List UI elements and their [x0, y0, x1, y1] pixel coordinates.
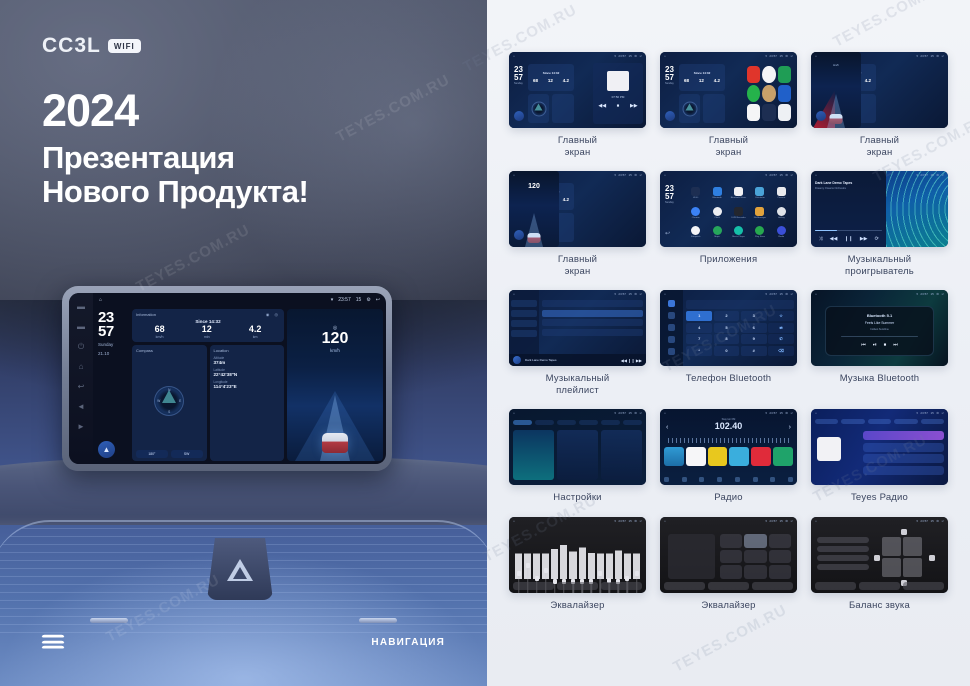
- app-drawer[interactable]: Wi-Fi Bluetooth Bluetooth Music Calculat…: [684, 182, 793, 243]
- hero-year: 2024: [42, 88, 308, 133]
- radio-icon: [777, 226, 786, 235]
- caption-line-1: Главный: [709, 135, 748, 146]
- app-tile[interactable]: Radio: [772, 223, 791, 241]
- hero-headline: 2024 Презентация Нового Продукта!: [42, 88, 308, 209]
- contacts-icon[interactable]: [668, 312, 675, 319]
- scene: Bluetooth 5.1 Feels Like Summer Coldest …: [811, 290, 948, 366]
- gallery-item[interactable]: 2357Sunday Since 14:32 68124.2 07:50 PM …: [509, 52, 646, 158]
- gallery-item[interactable]: Bluetooth 5.1 Feels Like Summer Coldest …: [811, 290, 948, 396]
- eq-band[interactable]: [615, 527, 622, 580]
- thumbnail-bluetooth-music[interactable]: Bluetooth 5.1 Feels Like Summer Coldest …: [811, 290, 948, 366]
- tab-sound-field[interactable]: [859, 582, 900, 590]
- app-tile[interactable]: Bluetooth: [707, 184, 726, 202]
- clock-column: 23 57 Sunday 21.10 ▲: [96, 309, 129, 461]
- stat-speed-value: 68: [155, 325, 165, 334]
- caption-line-2: экран: [565, 266, 591, 277]
- preset-2[interactable]: [686, 447, 706, 466]
- thumbnail-apps[interactable]: 2357Sunday Wi-Fi Bluetooth Bluetooth Mus…: [660, 171, 797, 247]
- head-unit-button-rail[interactable]: ▬ ▬ ⏻ ⌂ ↩ ◄ ►: [69, 293, 93, 464]
- app-tile[interactable]: Gallery: [772, 204, 791, 222]
- key-9[interactable]: 9: [741, 334, 767, 344]
- hero-line-1: Презентация: [42, 141, 308, 175]
- thumbnail-bluetooth-phone[interactable]: 1 2 3 ☆ 4 5 6 ⇄ 7 8 9 ✆: [660, 290, 797, 366]
- favorite-icon[interactable]: ☆: [768, 311, 794, 321]
- key-3[interactable]: 3: [741, 311, 767, 321]
- gallery-icon: [777, 207, 786, 216]
- thumbnail-music-player[interactable]: Dark Lane Demo Tapes Dreamy Oceans Orche…: [811, 171, 948, 247]
- tab-balance[interactable]: [601, 582, 642, 590]
- volume-level: 15: [356, 297, 362, 303]
- settings-icon[interactable]: [668, 348, 675, 355]
- equalizer-tabs[interactable]: [513, 582, 642, 590]
- key-2[interactable]: 2: [714, 311, 740, 321]
- thumbnail-settings[interactable]: ⌂▾23:5715⚙↩: [509, 409, 646, 485]
- tab-system[interactable]: [623, 420, 642, 425]
- eq-band[interactable]: [569, 529, 576, 579]
- wifi-badge: WIFI: [108, 39, 141, 53]
- teyes-track-list[interactable]: [863, 431, 944, 481]
- location-card[interactable]: Location Altitude 374m Latitude 22°42'38…: [210, 345, 285, 461]
- thumb-status-bar: ⌂▾23:5715⚙↩: [811, 171, 948, 178]
- stat-speed: 68 km/h: [155, 325, 165, 339]
- balance-front-nub[interactable]: [901, 529, 907, 535]
- backspace-icon[interactable]: ⌫: [768, 346, 794, 356]
- tab-sound[interactable]: [535, 420, 554, 425]
- stat-time: 12 min: [202, 325, 212, 339]
- thumbnail-home-apps[interactable]: 2357Sunday Since 14:32 68124.2: [660, 52, 797, 128]
- thumbnail-home-speed[interactable]: 2357Sunday Since 14:32 68124.2 km/h: [811, 52, 948, 128]
- preset-5[interactable]: [751, 447, 771, 466]
- tab-eq[interactable]: [815, 582, 856, 590]
- scene: Stayтип FM 102.40 ‹ ›: [660, 409, 797, 485]
- volume-up-icon[interactable]: ►: [77, 422, 86, 431]
- call-icon[interactable]: ✆: [768, 334, 794, 344]
- speed-panel[interactable]: ◎ 120 km/h: [287, 309, 383, 461]
- compass-card[interactable]: Compass N E W S: [132, 345, 207, 461]
- search-icon[interactable]: [668, 324, 675, 331]
- eq-band[interactable]: [588, 532, 595, 580]
- bt-track-title: Feels Like Summer: [865, 321, 894, 325]
- transfer-icon[interactable]: ⇄: [768, 323, 794, 333]
- compass-heading[interactable]: 180°: [136, 450, 168, 458]
- thumbnail-playlist[interactable]: Dark Lane Demo Tapes ◀◀ ❙❙ ▶▶ ⌂▾23:5715⚙…: [509, 290, 646, 366]
- hero-footer: НАВИГАЦИЯ: [0, 634, 487, 650]
- gallery-item[interactable]: 2357Sunday Since 14:32 68124.2: [660, 52, 797, 158]
- tile-wifi[interactable]: [513, 430, 554, 480]
- compass-direction[interactable]: SW: [171, 450, 203, 458]
- scene: 2357Sunday Since 14:32 68124.2: [660, 52, 797, 128]
- eq-band[interactable]: [624, 533, 631, 579]
- gallery-caption: Главный экран: [558, 254, 597, 277]
- power-icon[interactable]: ⏻: [77, 342, 86, 351]
- tab-balance[interactable]: [903, 582, 944, 590]
- balance-seat-grid[interactable]: [882, 537, 922, 577]
- balance-row[interactable]: [817, 564, 869, 570]
- preset-pad[interactable]: [720, 534, 742, 548]
- settings-tiles[interactable]: [513, 430, 642, 480]
- eq-band[interactable]: [542, 533, 549, 579]
- caption-line-1: Teyes Радио: [851, 492, 908, 503]
- gallery-item[interactable]: Dark Lane Demo Tapes Dreamy Oceans Orche…: [811, 171, 948, 277]
- playlist-row-selected[interactable]: [542, 310, 643, 317]
- eq-band[interactable]: [524, 533, 531, 579]
- dialpad[interactable]: 1 2 3 ☆ 4 5 6 ⇄ 7 8 9 ✆: [686, 311, 794, 356]
- gallery-caption: Главный экран: [709, 135, 748, 158]
- compass-e: E: [179, 399, 181, 403]
- next-station-icon[interactable]: ›: [789, 424, 791, 431]
- thumbnail-teyes-radio[interactable]: ⌂▾23:5715⚙↩: [811, 409, 948, 485]
- bluetooth-music-icon: [734, 187, 743, 196]
- shuffle-icon[interactable]: ⤨: [819, 236, 823, 242]
- compass-w: W: [157, 399, 160, 403]
- tile-carplay[interactable]: [557, 430, 598, 480]
- eq-band[interactable]: [515, 533, 522, 579]
- watermark: TEYES.COM.RU: [333, 71, 452, 145]
- stat-distance-unit: km: [249, 335, 262, 339]
- equalizer-tabs[interactable]: [815, 582, 944, 590]
- track-row[interactable]: [863, 454, 944, 463]
- gallery-caption: Главный экран: [860, 135, 899, 158]
- caption-line-1: Музыка Bluetooth: [840, 373, 920, 384]
- playlist-playbar[interactable]: Dark Lane Demo Tapes ◀◀ ❙❙ ▶▶: [509, 354, 646, 366]
- navigation-label: НАВИГАЦИЯ: [371, 637, 445, 648]
- key-6[interactable]: 6: [741, 323, 767, 333]
- screenshot-grid: 2357Sunday Since 14:32 68124.2 07:50 PM …: [487, 52, 970, 612]
- stat-distance: 4.2 km: [249, 325, 262, 339]
- app-tile[interactable]: Maps: [707, 223, 726, 241]
- back-icon[interactable]: ↩: [376, 297, 380, 303]
- dialer-main: 1 2 3 ☆ 4 5 6 ⇄ 7 8 9 ✆: [683, 290, 797, 366]
- gallery-item[interactable]: 1 2 3 ☆ 4 5 6 ⇄ 7 8 9 ✆: [660, 290, 797, 396]
- scene: 2357Sunday Since 14:32 68124.2 120: [509, 171, 646, 247]
- track-row-selected[interactable]: [863, 431, 944, 440]
- thumb-music-widget: 07:50 PM ◀◀⏹▶▶: [593, 63, 643, 124]
- playlist-row[interactable]: [542, 329, 643, 336]
- track-title: Dark Lane Demo Tapes: [815, 181, 882, 185]
- back-icon[interactable]: ↩: [665, 230, 675, 240]
- gallery-item[interactable]: 2357Sunday Since 14:32 68124.2 120: [509, 171, 646, 277]
- gallery-item[interactable]: ⌂▾23:5715⚙↩ Teyes Радио: [811, 409, 948, 504]
- rail-plus-icon[interactable]: ▬: [77, 322, 86, 331]
- key-hash[interactable]: #: [741, 346, 767, 356]
- equalizer-presets[interactable]: [720, 534, 791, 579]
- thumb-compass: [528, 94, 549, 123]
- music-player-icon: [734, 226, 743, 235]
- stop-icon[interactable]: ⏹: [884, 342, 887, 348]
- gallery-item[interactable]: ⌂▾23:5715⚙↩ Баланс звука: [811, 517, 948, 612]
- brand-name: CC3L: [42, 34, 101, 58]
- tile-more[interactable]: [601, 430, 642, 480]
- status-home-icon[interactable]: ⌂: [99, 297, 102, 303]
- thumb-status-bar: ⌂▾23:5715⚙↩: [811, 409, 948, 416]
- key-8[interactable]: 8: [714, 334, 740, 344]
- caption-line-1: Приложения: [700, 254, 758, 265]
- preset-pad[interactable]: [720, 550, 742, 564]
- gallery-item[interactable]: Stayтип FM 102.40 ‹ ›: [660, 409, 797, 504]
- head-unit-display[interactable]: ⌂ ▾ 23:57 15 ⚙ ↩ 23 57: [93, 293, 386, 464]
- gallery-item[interactable]: 2357Sunday Since 14:32 68124.2 km/h: [811, 52, 948, 158]
- previous-icon[interactable]: ◀◀: [830, 236, 838, 242]
- preset-1[interactable]: [664, 447, 684, 466]
- status-time: 23:57: [338, 297, 351, 303]
- preset-pad[interactable]: [744, 565, 766, 579]
- next-icon[interactable]: ⏭: [893, 342, 898, 348]
- gallery-item[interactable]: ⌂▾23:5715⚙↩ Настройки: [509, 409, 646, 504]
- thumb-status-bar: ⌂▾23:5715⚙↩: [811, 517, 948, 524]
- key-4[interactable]: 4: [686, 323, 712, 333]
- key-1[interactable]: 1: [686, 311, 712, 321]
- playlist-row[interactable]: [542, 319, 643, 326]
- gallery-caption: Эквалайзер: [701, 600, 755, 612]
- balance-presets[interactable]: [817, 537, 869, 570]
- preset-3[interactable]: [708, 447, 728, 466]
- app-tile[interactable]: Music Player: [729, 223, 748, 241]
- gallery-item[interactable]: Dark Lane Demo Tapes ◀◀ ❙❙ ▶▶ ⌂▾23:5715⚙…: [509, 290, 646, 396]
- volume-down-icon[interactable]: ◄: [77, 402, 86, 411]
- caption-line-1: Главный: [558, 254, 597, 265]
- next-icon[interactable]: ▶▶: [860, 236, 868, 242]
- caption-line-2: экран: [716, 147, 742, 158]
- gallery-caption: Музыкальный плейлист: [546, 373, 610, 396]
- app-tile[interactable]: Clock: [707, 204, 726, 222]
- teyes-topbar[interactable]: [815, 419, 944, 424]
- status-bar-right: ▾ 23:57 15 ⚙ ↩: [331, 297, 380, 303]
- caption-line-1: Музыкальный: [848, 254, 912, 265]
- caption-line-1: Главный: [558, 135, 597, 146]
- scene: 1 2 3 ☆ 4 5 6 ⇄ 7 8 9 ✆: [660, 290, 797, 366]
- compass-s: S: [168, 410, 170, 414]
- eq-band[interactable]: [560, 517, 567, 579]
- settings-tabs[interactable]: [513, 420, 642, 425]
- scene: Dark Lane Demo Tapes ◀◀ ❙❙ ▶▶: [509, 290, 646, 366]
- tab-wifi[interactable]: [513, 420, 532, 425]
- thumb-car-avatar: [528, 233, 541, 243]
- dialpad-icon[interactable]: [668, 300, 675, 307]
- thumbnail-equalizer[interactable]: ⌂▾23:5715⚙↩: [509, 517, 646, 593]
- balance-row[interactable]: [817, 555, 869, 561]
- thumb-nav-fab: [514, 111, 524, 121]
- scene: [811, 409, 948, 485]
- information-card[interactable]: Information ◉ ◎ Since 14:32 68 km/h: [132, 309, 284, 342]
- call-log-icon[interactable]: [668, 336, 675, 343]
- app-tile[interactable]: Bluetooth Music: [729, 184, 748, 202]
- preset-pad[interactable]: [744, 550, 766, 564]
- app-tile[interactable]: Calculator: [750, 184, 769, 202]
- app-tile[interactable]: FileManager: [750, 204, 769, 222]
- thumbnail-home-road[interactable]: 2357Sunday Since 14:32 68124.2 120: [509, 171, 646, 247]
- playbar-controls[interactable]: ◀◀ ❙❙ ▶▶: [621, 358, 642, 363]
- thumb-stats: 68124.2: [528, 78, 574, 83]
- key-star[interactable]: *: [686, 346, 712, 356]
- tab-sound-field[interactable]: [557, 582, 598, 590]
- equalizer-sliders[interactable]: [515, 533, 640, 579]
- thumb-status-bar: ⌂▾23:5715⚙↩: [509, 517, 646, 524]
- navigation-icon[interactable]: ▲: [98, 441, 115, 458]
- clock-day: Sunday: [98, 342, 129, 348]
- app-tile[interactable]: DVR Recorder: [729, 204, 748, 222]
- previous-station-icon[interactable]: ‹: [666, 424, 668, 431]
- thumb-information-card: Since 14:32 68124.2: [528, 64, 574, 91]
- preset-pad[interactable]: [769, 565, 791, 579]
- equalizer-tabs[interactable]: [664, 582, 793, 590]
- caption-line-1: Эквалайзер: [701, 600, 755, 611]
- head-unit-body: 23 57 Sunday 21.10 ▲ Information: [93, 306, 386, 464]
- preset-4[interactable]: [729, 447, 749, 466]
- home-icon: ⌂: [513, 54, 515, 58]
- stat-time-value: 12: [202, 325, 212, 334]
- thumb-clock: 2357Sunday: [665, 66, 674, 86]
- compass-n: N: [168, 388, 170, 392]
- tab-balance[interactable]: [752, 582, 793, 590]
- preset-6[interactable]: [773, 447, 793, 466]
- progress-bar[interactable]: [815, 230, 882, 232]
- track-row[interactable]: [863, 466, 944, 475]
- rail-minus-icon[interactable]: ▬: [77, 302, 86, 311]
- app-tile[interactable]: Camera: [772, 184, 791, 202]
- eq-band[interactable]: [579, 522, 586, 580]
- longitude-value: 114°4'23"E: [214, 384, 281, 389]
- bluetooth-version-label: Bluetooth 5.1: [867, 313, 892, 318]
- player-visualizer: [886, 171, 948, 247]
- information-card-actions[interactable]: ◉ ◎: [266, 312, 280, 317]
- app-tile[interactable]: Wi-Fi: [686, 184, 705, 202]
- gallery-caption: Радио: [714, 492, 742, 504]
- clock-widget: 23 57 Sunday 21.10: [98, 311, 129, 357]
- caption-line-1: Эквалайзер: [550, 600, 604, 611]
- tab-factory[interactable]: [579, 420, 598, 425]
- gallery-item[interactable]: ⌂▾23:5715⚙↩ Эквалайзер: [660, 517, 797, 612]
- app-tile[interactable]: Chrome: [686, 204, 705, 222]
- watermark: TEYES.COM.RU: [830, 0, 949, 51]
- home-icon[interactable]: ⌂: [77, 362, 86, 371]
- back-icon[interactable]: ↩: [77, 382, 86, 391]
- calculator-icon: [755, 187, 764, 196]
- thumb-status-bar: ⌂▾23:5715⚙↩: [660, 290, 797, 297]
- car-avatar: [322, 433, 348, 453]
- gallery-item[interactable]: 2357Sunday Wi-Fi Bluetooth Bluetooth Mus…: [660, 171, 797, 277]
- app-tile[interactable]: Kinopoisk: [686, 223, 705, 241]
- trip-stats: 68 km/h 12 min 4.2 km: [136, 325, 280, 339]
- stat-time-unit: min: [202, 335, 212, 339]
- thumb-nav-fab: [665, 111, 675, 121]
- thumbnail-sound-balance[interactable]: ⌂▾23:5715⚙↩: [811, 517, 948, 593]
- bt-progress-bar[interactable]: [841, 336, 918, 337]
- equalizer-vertical-sliders[interactable]: [668, 534, 715, 579]
- speed-unit: km/h: [287, 348, 383, 353]
- eq-band[interactable]: [551, 524, 558, 579]
- pause-icon[interactable]: ❙❙: [844, 236, 852, 242]
- thumb-location: [703, 94, 725, 123]
- hazard-light-button[interactable]: [207, 538, 273, 600]
- dial-display[interactable]: [686, 300, 794, 309]
- compass-icon: N E W S: [154, 386, 184, 416]
- caption-line-2: экран: [867, 147, 893, 158]
- key-5[interactable]: 5: [714, 323, 740, 333]
- status-bar: ⌂ ▾ 23:57 15 ⚙ ↩: [93, 293, 386, 306]
- clock-icon: [713, 207, 722, 216]
- scene: [811, 517, 948, 593]
- thumbnail-home-music[interactable]: 2357Sunday Since 14:32 68124.2 07:50 PM …: [509, 52, 646, 128]
- preset-pad[interactable]: [720, 565, 742, 579]
- preset-pad-selected[interactable]: [744, 534, 766, 548]
- playlist-row[interactable]: [542, 300, 643, 307]
- bt-controls[interactable]: ⏮ ⏯ ⏹ ⏭: [861, 342, 898, 348]
- chrome-icon: [691, 207, 700, 216]
- latitude-row: Latitude 22°42'38"N: [214, 368, 281, 377]
- player-controls[interactable]: ⤨ ◀◀ ❙❙ ▶▶ ⟳: [815, 236, 882, 242]
- player-info: Dark Lane Demo Tapes Dreamy Oceans Orche…: [811, 171, 886, 247]
- information-card-title: Information: [136, 312, 156, 317]
- eq-band[interactable]: [533, 533, 540, 579]
- thumb-status-bar: ⌂▾23:5715⚙↩: [509, 52, 646, 59]
- thumb-status-bar: ⌂▾23:5715⚙↩: [660, 409, 797, 416]
- dialer-sidebar[interactable]: [660, 290, 683, 366]
- preset-pad[interactable]: [769, 550, 791, 564]
- tab-eq[interactable]: [664, 582, 705, 590]
- thumb-status-bar: ⌂▾23:5715⚙↩: [509, 171, 646, 178]
- thumb-status-bar: ⌂▾23:5715⚙↩: [660, 52, 797, 59]
- radio-presets[interactable]: [664, 447, 793, 466]
- eq-band[interactable]: [633, 533, 640, 579]
- balance-row[interactable]: [817, 537, 869, 543]
- previous-icon[interactable]: ⏮: [861, 342, 866, 348]
- maps-icon: [713, 226, 722, 235]
- gallery-caption: Teyes Радио: [851, 492, 908, 504]
- altitude-row: Altitude 374m: [214, 356, 281, 365]
- app-tile[interactable]: Play Store: [750, 223, 769, 241]
- frequency-scale[interactable]: [668, 438, 789, 443]
- caption-line-1: Настройки: [553, 492, 601, 503]
- tab-display[interactable]: [557, 420, 576, 425]
- thumb-speed-value: 120: [509, 183, 559, 190]
- thumb-nav-fab: [816, 111, 826, 121]
- key-7[interactable]: 7: [686, 334, 712, 344]
- thumb-car-avatar: [830, 114, 843, 124]
- gallery-caption: Эквалайзер: [550, 600, 604, 612]
- layers-icon[interactable]: [42, 634, 64, 650]
- preset-pad[interactable]: [769, 534, 791, 548]
- play-pause-icon[interactable]: ⏯: [873, 342, 877, 348]
- head-unit-screen-frame: ▬ ▬ ⏻ ⌂ ↩ ◄ ► ⌂ ▾ 23:57 15 ⚙: [69, 293, 386, 464]
- thumb-status-bar: ⌂▾23:5715⚙↩: [811, 52, 948, 59]
- thumbnail-radio[interactable]: Stayтип FM 102.40 ‹ ›: [660, 409, 797, 485]
- repeat-icon[interactable]: ⟳: [875, 236, 879, 242]
- eq-band[interactable]: [597, 533, 604, 579]
- track-row[interactable]: [863, 443, 944, 452]
- scene: 2357Sunday Since 14:32 68124.2 07:50 PM …: [509, 52, 646, 128]
- balance-row[interactable]: [817, 546, 869, 552]
- scene: Dark Lane Demo Tapes Dreamy Oceans Orche…: [811, 171, 948, 247]
- scene: 2357Sunday Wi-Fi Bluetooth Bluetooth Mus…: [660, 171, 797, 247]
- gallery-item[interactable]: ⌂▾23:5715⚙↩ Эквалайзер: [509, 517, 646, 612]
- tab-eq[interactable]: [513, 582, 554, 590]
- thumb-information-card: Since 14:32 68124.2: [679, 64, 725, 91]
- tab-sound-field[interactable]: [708, 582, 749, 590]
- compass-buttons: 180° SW: [136, 450, 203, 458]
- information-card-header: Information ◉ ◎: [136, 312, 280, 317]
- album-art: [513, 356, 521, 364]
- gear-icon[interactable]: ⚙: [366, 297, 370, 303]
- watermark: TEYES.COM.RU: [133, 221, 252, 295]
- thumbnail-equalizer-presets[interactable]: ⌂▾23:5715⚙↩: [660, 517, 797, 593]
- key-0[interactable]: 0: [714, 346, 740, 356]
- widgets-column: Information ◉ ◎ Since 14:32 68 km/h: [132, 309, 284, 461]
- radio-dock[interactable]: [664, 477, 793, 482]
- balance-right-nub[interactable]: [929, 555, 935, 561]
- balance-left-nub[interactable]: [874, 555, 880, 561]
- tab-general[interactable]: [601, 420, 620, 425]
- eq-band[interactable]: [606, 533, 613, 579]
